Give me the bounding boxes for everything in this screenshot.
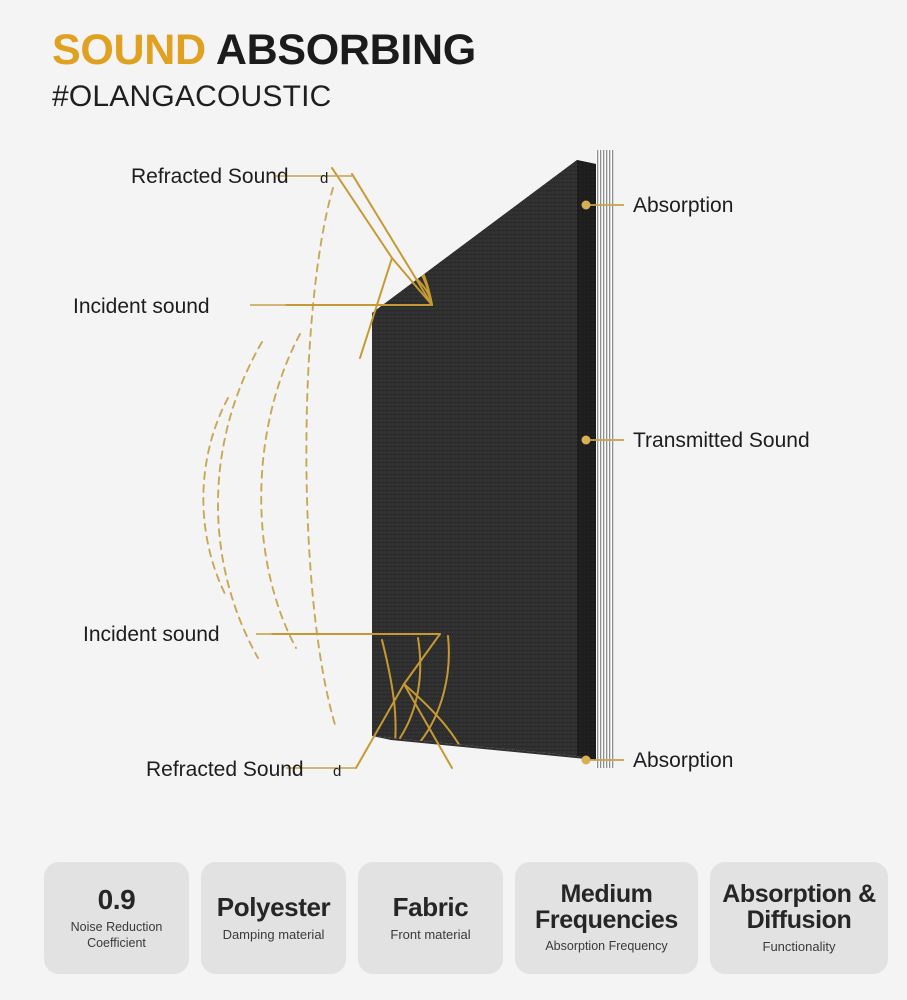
label-refracted-sound-top: Refracted Sound bbox=[131, 165, 289, 188]
wall-surface bbox=[596, 150, 614, 768]
absorption-top-marker bbox=[582, 201, 591, 210]
feature-card-value: Medium Frequencies bbox=[521, 881, 692, 933]
feature-card-functionality[interactable]: Absorption & Diffusion Functionality bbox=[710, 862, 888, 974]
feature-card-caption: Absorption Frequency bbox=[545, 939, 667, 954]
feature-card-caption: Noise Reduction Coefficient bbox=[50, 920, 183, 951]
left-callout-lines bbox=[250, 176, 356, 768]
feature-card-value: Absorption & Diffusion bbox=[716, 881, 882, 933]
absorption-bottom-marker bbox=[582, 756, 591, 765]
label-absorption-bottom: Absorption bbox=[633, 749, 733, 772]
label-refracted-sound-bottom-typo: d bbox=[333, 763, 341, 780]
feature-card-caption: Functionality bbox=[763, 939, 836, 955]
feature-card-list: 0.9 Noise Reduction Coefficient Polyeste… bbox=[44, 862, 866, 974]
page-title: SOUND ABSORBING bbox=[52, 28, 752, 74]
feature-card-absorption-frequency[interactable]: Medium Frequencies Absorption Frequency bbox=[515, 862, 698, 974]
label-refracted-sound-bottom: Refracted Sound bbox=[146, 758, 304, 781]
feature-card-caption: Damping material bbox=[223, 927, 325, 943]
brand-hashtag: #OLANGACOUSTIC bbox=[52, 80, 752, 115]
feature-card-damping-material[interactable]: Polyester Damping material bbox=[201, 862, 346, 974]
acoustic-panel-diagram: Refracted Sound d Incident sound Absorpt… bbox=[0, 128, 907, 828]
feature-card-value: Fabric bbox=[393, 894, 469, 921]
incident-sound-waves bbox=[203, 188, 336, 728]
title-rest-word: ABSORBING bbox=[206, 26, 476, 74]
title-accent-word: SOUND bbox=[52, 26, 206, 74]
feature-card-caption: Front material bbox=[390, 927, 470, 943]
panel-front-face bbox=[372, 160, 577, 756]
header: SOUND ABSORBING #OLANGACOUSTIC bbox=[52, 28, 752, 114]
panel-side-face bbox=[577, 160, 596, 760]
feature-card-value: 0.9 bbox=[98, 885, 136, 914]
feature-card-value: Polyester bbox=[217, 894, 330, 921]
feature-card-nrc[interactable]: 0.9 Noise Reduction Coefficient bbox=[44, 862, 189, 974]
transmitted-sound-marker bbox=[582, 436, 591, 445]
feature-card-front-material[interactable]: Fabric Front material bbox=[358, 862, 503, 974]
diagram-svg: Refracted Sound d Incident sound Absorpt… bbox=[0, 128, 907, 828]
label-transmitted-sound: Transmitted Sound bbox=[633, 429, 810, 452]
label-absorption-top: Absorption bbox=[633, 194, 733, 217]
label-refracted-sound-top-typo: d bbox=[320, 170, 328, 187]
label-incident-sound-top: Incident sound bbox=[73, 295, 210, 318]
infographic-page: SOUND ABSORBING #OLANGACOUSTIC bbox=[0, 0, 907, 1000]
label-incident-sound-bottom: Incident sound bbox=[83, 623, 220, 646]
acoustic-panel bbox=[372, 160, 596, 760]
